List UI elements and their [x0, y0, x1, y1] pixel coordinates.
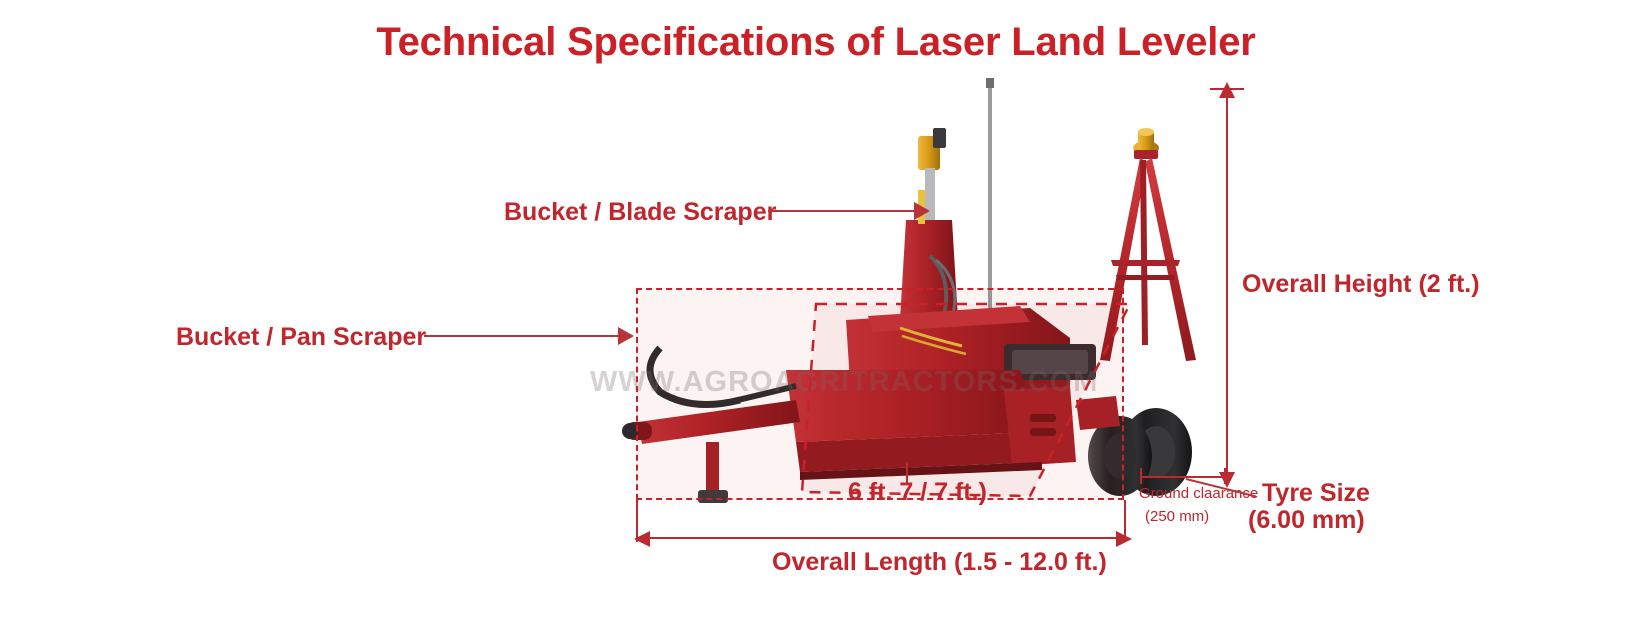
- ground-clearance-right-tick: [1224, 468, 1226, 484]
- pan-scraper-label: Bucket / Pan Scraper: [176, 323, 426, 352]
- width-label: 6 ft. 7 / 7 ft.): [848, 478, 987, 507]
- blade-scraper-region: [800, 296, 1140, 508]
- overall-length-left-tick: [636, 500, 638, 542]
- pan-scraper-leader: [424, 335, 620, 337]
- page-title: Technical Specifications of Laser Land L…: [0, 20, 1632, 65]
- ground-clearance-value: (250 mm): [1145, 508, 1209, 525]
- ground-clearance-dimension-line: [1140, 476, 1226, 478]
- overall-height-label: Overall Height (2 ft.): [1242, 270, 1480, 299]
- blade-scraper-leader: [768, 210, 916, 212]
- overall-height-top-tick: [1210, 88, 1244, 90]
- specification-diagram: Technical Specifications of Laser Land L…: [0, 0, 1632, 640]
- overall-length-label: Overall Length (1.5 - 12.0 ft.): [772, 548, 1107, 577]
- tyre-size-label: Tyre Size: [1262, 479, 1370, 508]
- width-pointer-tick: [906, 462, 908, 484]
- overall-length-dimension-line: [640, 537, 1126, 539]
- overall-length-right-tick: [1124, 500, 1126, 542]
- overall-length-right-arrowhead: [1114, 530, 1132, 548]
- ground-clearance-left-tick: [1140, 468, 1142, 484]
- overall-height-dimension-line: [1226, 88, 1228, 480]
- tyre-size-value: (6.00 mm): [1248, 506, 1365, 535]
- overall-height-top-arrowhead: [1218, 82, 1236, 100]
- blade-scraper-label: Bucket / Blade Scraper: [504, 198, 776, 227]
- blade-scraper-arrowhead: [914, 202, 930, 220]
- pan-scraper-arrowhead: [618, 327, 634, 345]
